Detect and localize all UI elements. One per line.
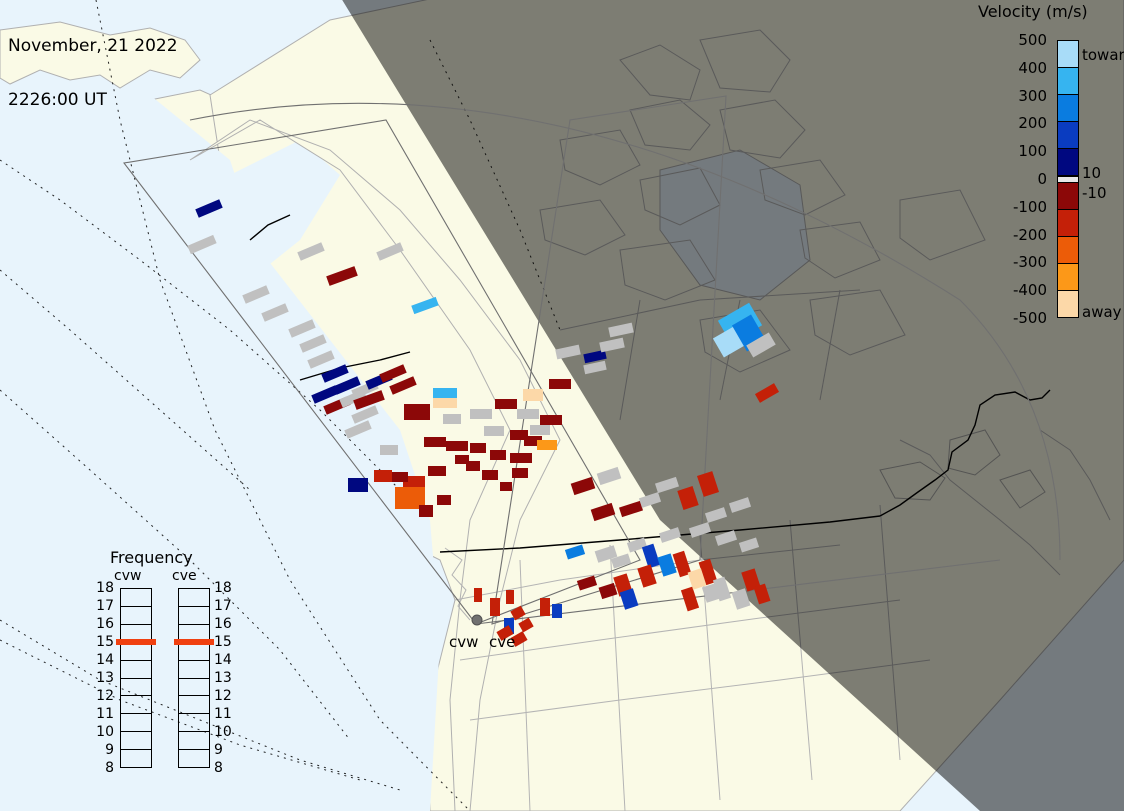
radar-label-cvw: cvw	[449, 633, 478, 651]
frequency-segment-cvw-4	[121, 661, 151, 679]
velocity-cell	[506, 590, 514, 604]
frequency-bar-cve	[178, 588, 210, 768]
frequency-tick-cve-9: 9	[214, 742, 223, 758]
frequency-tick-cvw-16: 16	[96, 616, 114, 632]
velocity-cell	[419, 505, 433, 517]
colorbar-band-3	[1058, 122, 1078, 149]
frequency-segment-cvw-0	[121, 589, 151, 607]
frequency-segment-cve-6	[179, 696, 209, 714]
velocity-cell	[428, 466, 446, 476]
frequency-tick-cvw-8: 8	[105, 760, 114, 776]
superdarn-velocity-map: November, 21 2022 2226:00 UT Velocity (m…	[0, 0, 1124, 811]
velocity-cell	[549, 379, 571, 389]
velocity-cell	[500, 482, 512, 491]
velocity-cell	[495, 399, 517, 409]
colorbar-tick--500: -500	[1013, 309, 1047, 327]
velocity-cell	[424, 437, 446, 447]
frequency-column-title-cve: cve	[172, 568, 197, 584]
frequency-segment-cve-4	[179, 661, 209, 679]
velocity-cell	[433, 388, 457, 398]
frequency-tick-cve-14: 14	[214, 652, 232, 668]
colorbar-band-4	[1058, 149, 1078, 176]
velocity-cell	[530, 425, 550, 435]
frequency-tick-cve-11: 11	[214, 706, 232, 722]
colorbar-toward-label: toward	[1082, 46, 1124, 64]
timestamp-time: 2226:00 UT	[8, 91, 178, 109]
velocity-cell	[523, 389, 543, 401]
velocity-cell	[433, 398, 457, 408]
velocity-cell	[484, 426, 504, 436]
colorbar-band-10	[1058, 291, 1078, 317]
colorbar-tick-200: 200	[1018, 114, 1047, 132]
frequency-tick-cve-12: 12	[214, 688, 232, 704]
velocity-cell	[470, 443, 486, 453]
frequency-tick-cvw-18: 18	[96, 580, 114, 596]
frequency-legend: Frequency cvw cve 18171615141312111098 1…	[88, 548, 238, 788]
frequency-tick-cvw-17: 17	[96, 598, 114, 614]
colorbar-band-8	[1058, 237, 1078, 264]
colorbar-tick-100: 100	[1018, 142, 1047, 160]
colorbar-band-9	[1058, 264, 1078, 291]
frequency-tick-cvw-10: 10	[96, 724, 114, 740]
frequency-segment-cvw-5	[121, 679, 151, 697]
velocity-cell	[512, 468, 528, 478]
frequency-tick-cve-15: 15	[214, 634, 232, 650]
velocity-colorbar-ticks: 5004003002001000-100-200-300-400-500	[960, 40, 1052, 318]
colorbar-lower-threshold-label: -10	[1082, 184, 1107, 202]
velocity-cell	[437, 495, 451, 505]
velocity-cell	[517, 409, 539, 419]
colorbar-tick-300: 300	[1018, 87, 1047, 105]
velocity-cell	[540, 415, 562, 425]
velocity-cell	[510, 453, 532, 463]
frequency-ticks-cve: 18171615141312111098	[212, 588, 238, 768]
radar-label-cve: cve	[489, 633, 515, 651]
velocity-cell	[474, 588, 482, 602]
timestamp-date: November, 21 2022	[8, 37, 178, 55]
frequency-tick-cvw-13: 13	[96, 670, 114, 686]
frequency-tick-cve-18: 18	[214, 580, 232, 596]
frequency-segment-cve-7	[179, 714, 209, 732]
frequency-bar-cvw	[120, 588, 152, 768]
frequency-segment-cve-1	[179, 607, 209, 625]
velocity-colorbar-side-labels: toward10-10away	[1082, 40, 1124, 330]
frequency-tick-cve-17: 17	[214, 598, 232, 614]
velocity-cell	[540, 598, 550, 616]
velocity-cell	[537, 440, 557, 450]
colorbar-tick-0: 0	[1037, 170, 1047, 188]
colorbar-band-6	[1058, 183, 1078, 210]
timestamp: November, 21 2022 2226:00 UT	[8, 1, 178, 145]
frequency-ticks-cvw: 18171615141312111098	[90, 588, 116, 768]
velocity-colorbar	[1057, 40, 1079, 318]
frequency-segment-cve-9	[179, 750, 209, 767]
frequency-marker-cve	[174, 639, 214, 645]
colorbar-band-1	[1058, 68, 1078, 95]
colorbar-band-5	[1058, 176, 1078, 183]
frequency-tick-cve-16: 16	[214, 616, 232, 632]
frequency-tick-cve-13: 13	[214, 670, 232, 686]
velocity-legend-title: Velocity (m/s)	[978, 2, 1088, 21]
colorbar-tick--200: -200	[1013, 226, 1047, 244]
colorbar-away-label: away	[1082, 303, 1122, 321]
colorbar-tick--400: -400	[1013, 281, 1047, 299]
frequency-segment-cve-3	[179, 643, 209, 661]
velocity-cell	[374, 470, 392, 482]
velocity-legend: Velocity (m/s) 5004003002001000-100-200-…	[960, 0, 1124, 340]
colorbar-tick--100: -100	[1013, 198, 1047, 216]
frequency-segment-cve-0	[179, 589, 209, 607]
velocity-cell	[404, 404, 430, 420]
frequency-legend-title: Frequency	[110, 548, 193, 567]
frequency-marker-cvw	[116, 639, 156, 645]
velocity-cell	[490, 450, 506, 460]
frequency-tick-cvw-14: 14	[96, 652, 114, 668]
frequency-segment-cvw-1	[121, 607, 151, 625]
colorbar-tick-500: 500	[1018, 31, 1047, 49]
frequency-tick-cve-10: 10	[214, 724, 232, 740]
frequency-segment-cve-8	[179, 732, 209, 750]
colorbar-band-7	[1058, 210, 1078, 237]
frequency-segment-cve-5	[179, 679, 209, 697]
frequency-tick-cvw-15: 15	[96, 634, 114, 650]
velocity-cell	[443, 414, 461, 424]
frequency-tick-cvw-12: 12	[96, 688, 114, 704]
velocity-cell	[552, 604, 562, 618]
frequency-segment-cvw-6	[121, 696, 151, 714]
velocity-cell	[380, 445, 398, 455]
frequency-segment-cvw-3	[121, 643, 151, 661]
velocity-cell	[482, 470, 498, 480]
frequency-tick-cvw-9: 9	[105, 742, 114, 758]
velocity-cell	[392, 472, 408, 482]
velocity-cell	[470, 409, 492, 419]
velocity-cell	[446, 441, 468, 451]
velocity-cell	[466, 461, 480, 471]
colorbar-band-0	[1058, 41, 1078, 68]
velocity-cell	[490, 598, 500, 616]
frequency-tick-cvw-11: 11	[96, 706, 114, 722]
frequency-segment-cvw-9	[121, 750, 151, 767]
radar-site-marker	[472, 615, 482, 625]
frequency-segment-cvw-8	[121, 732, 151, 750]
colorbar-tick--300: -300	[1013, 253, 1047, 271]
frequency-tick-cve-8: 8	[214, 760, 223, 776]
frequency-column-title-cvw: cvw	[114, 568, 141, 584]
colorbar-band-2	[1058, 95, 1078, 122]
colorbar-upper-threshold-label: 10	[1082, 164, 1101, 182]
frequency-segment-cvw-7	[121, 714, 151, 732]
colorbar-tick-400: 400	[1018, 59, 1047, 77]
velocity-cell	[348, 478, 368, 492]
